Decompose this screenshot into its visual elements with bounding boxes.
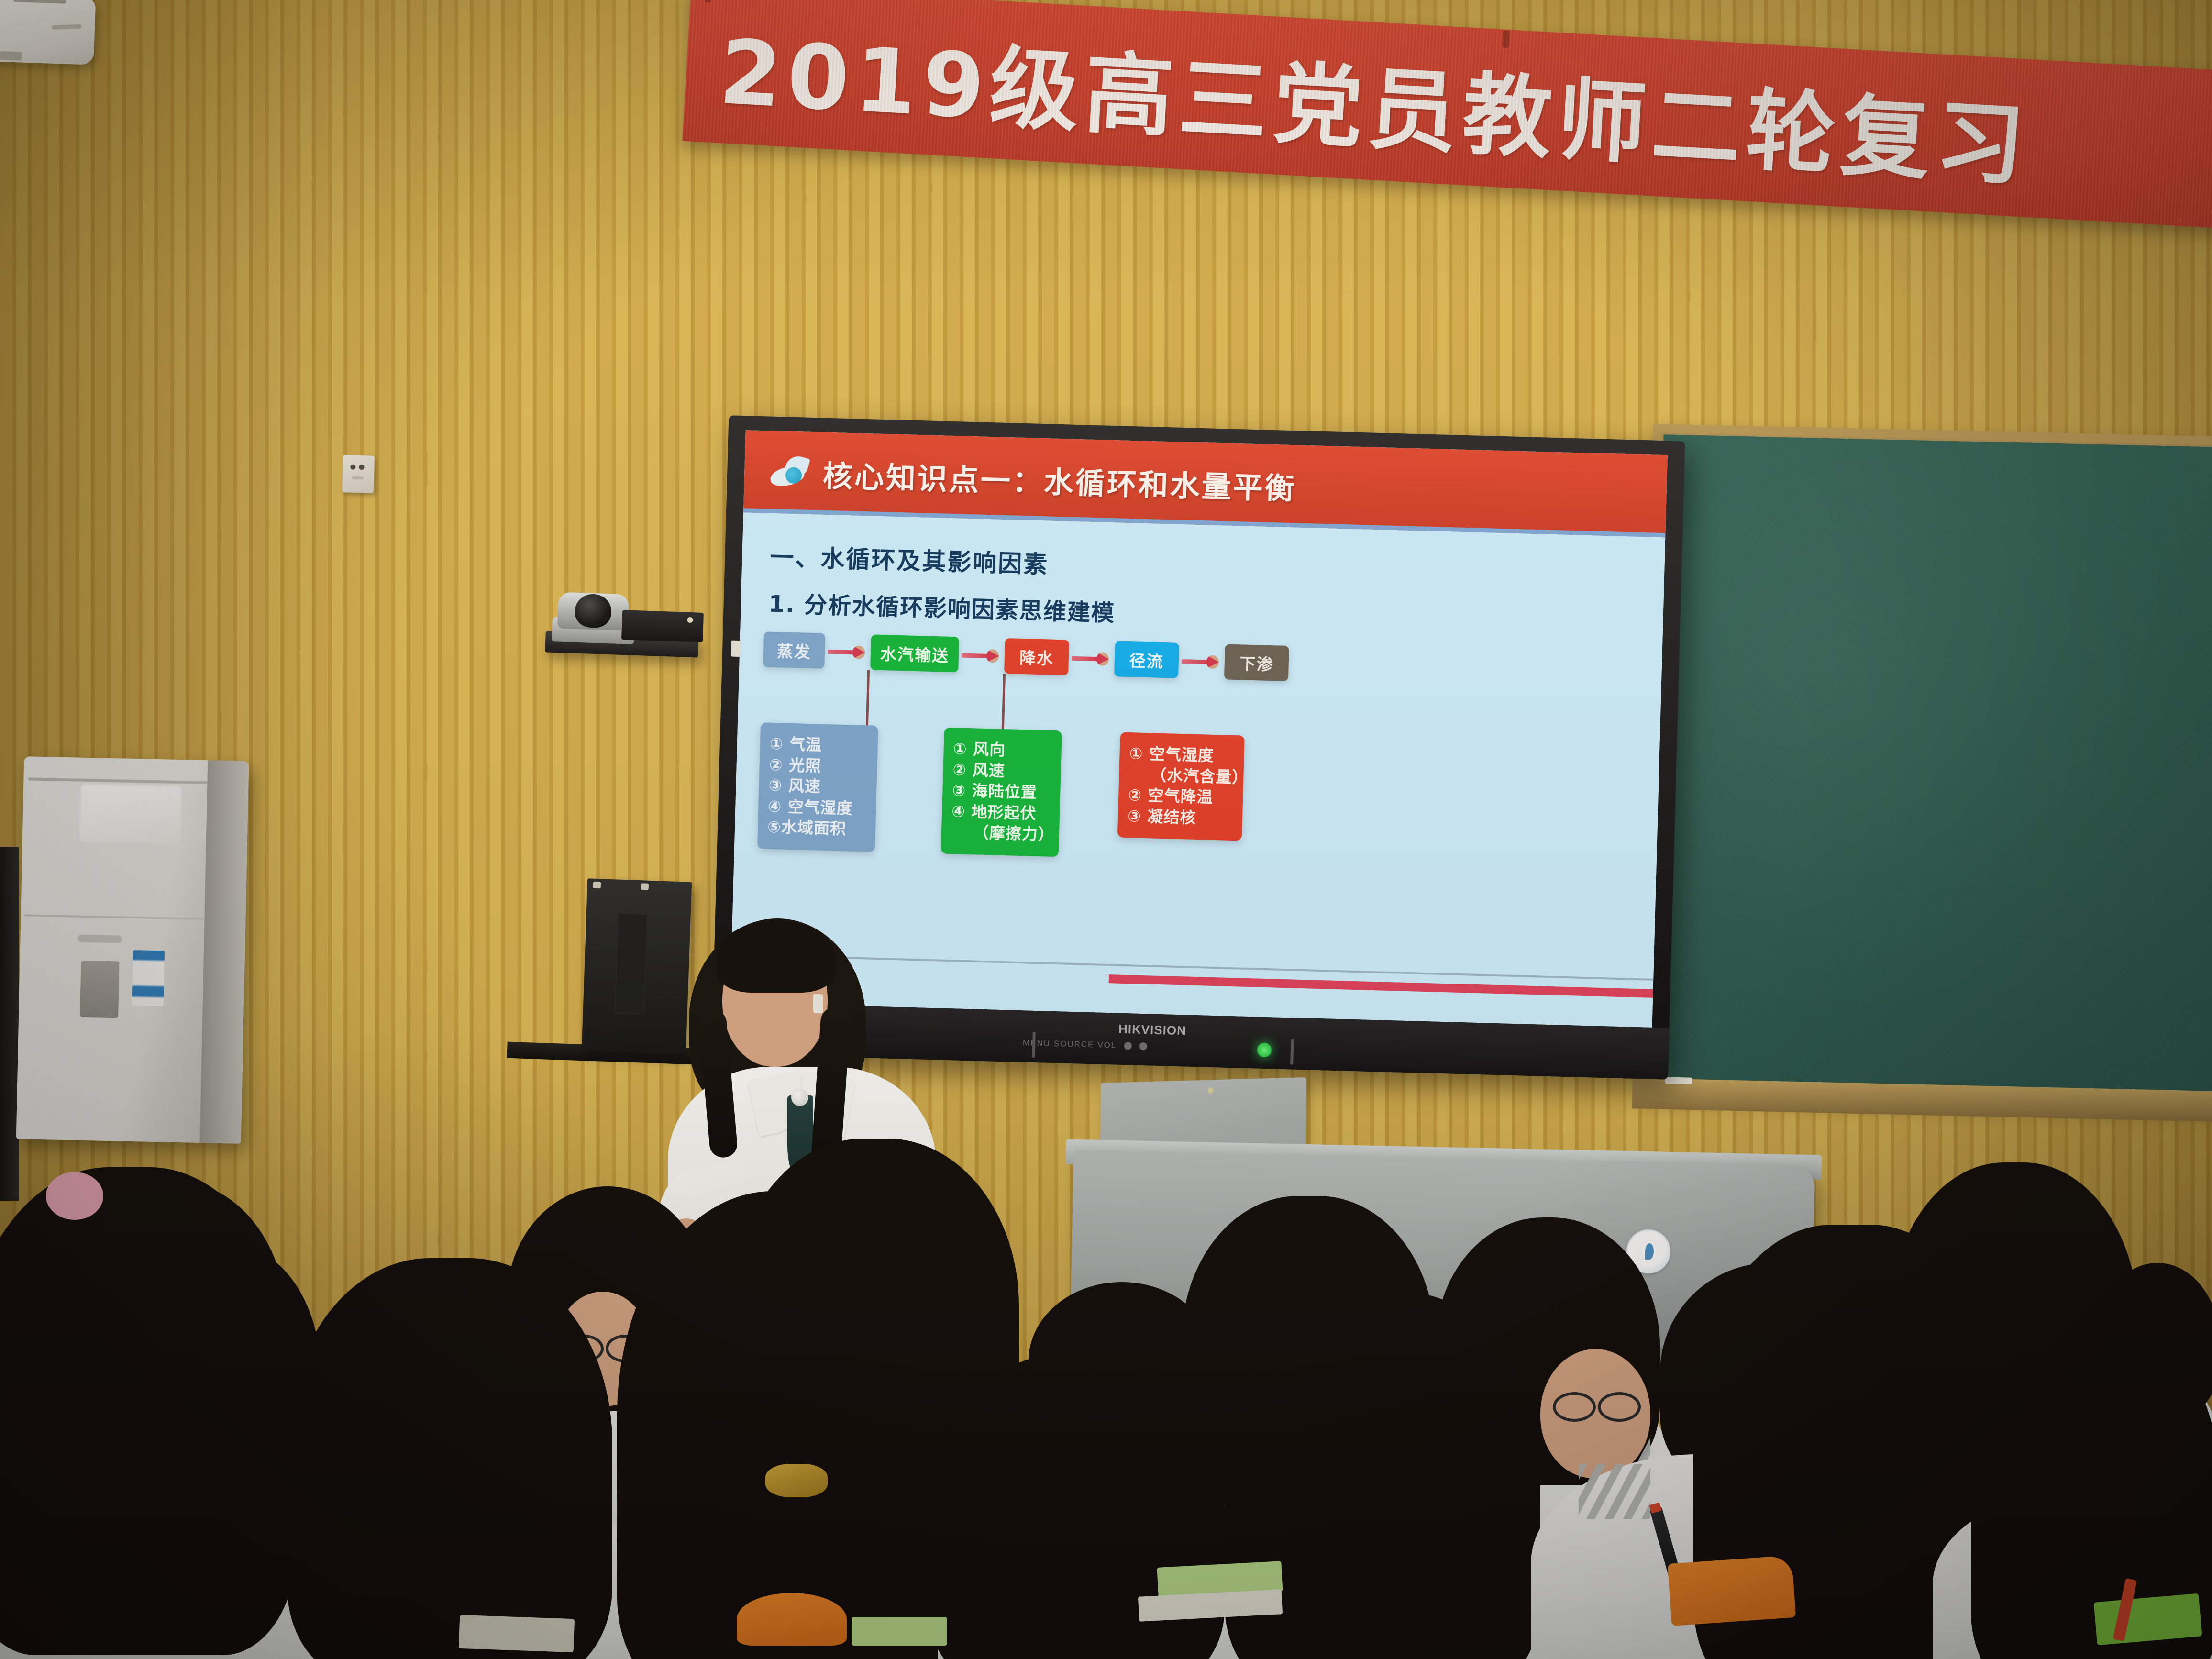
chalk-stick[interactable] (1665, 1077, 1692, 1084)
orange-folder[interactable] (1668, 1555, 1796, 1626)
panel-screen[interactable]: 核心知识点一：水循环和水量平衡 一、水循环及其影响因素 1. 分析水循环影响因素… (730, 430, 1668, 1028)
detail-item: ① 空气湿度 (1129, 743, 1235, 766)
chalkboard-surface (1647, 432, 2212, 1098)
banner-tie-mid (1502, 30, 1510, 48)
student-hair (617, 1191, 971, 1659)
camera-control-box (621, 610, 704, 642)
teacher-hair-top (717, 921, 835, 993)
glasses-icon (1553, 1392, 1596, 1422)
flow-chip-evaporation: 蒸发 (763, 631, 825, 668)
detail-item: ① 气温 (769, 733, 868, 757)
flow-arrow-1-icon (825, 645, 871, 658)
ac-energy-label (132, 950, 165, 1006)
panel-ir-sensor-icon (731, 641, 741, 657)
panel-bezel-tick-left (1032, 1032, 1035, 1058)
slide-body: 一、水循环及其影响因素 1. 分析水循环影响因素思维建模 蒸发 水汽输送 降水 … (730, 512, 1665, 1028)
detail-item: ① 风向 (953, 738, 1052, 762)
detail-item: （水汽含量） (1128, 764, 1234, 787)
green-stationery[interactable] (2093, 1593, 2202, 1646)
detail-item: ④ 空气湿度 (768, 796, 867, 819)
detail-box-precipitation: ① 空气湿度 （水汽含量） ② 空气降温 ③ 凝结核 (1117, 732, 1245, 841)
wall-speaker (0, 0, 96, 65)
ac-display-panel[interactable] (80, 961, 119, 1018)
glasses-icon (1598, 1392, 1641, 1422)
slide-heading-1: 一、水循环及其影响因素 (770, 538, 1050, 580)
panel-button-1-icon[interactable] (1124, 1042, 1132, 1050)
paper-sheet[interactable] (459, 1615, 575, 1652)
wall-dark-edge (0, 847, 19, 1201)
detail-box-evaporation: ① 气温 ② 光照 ③ 风速 ④ 空气湿度 ⑤水域面积 (757, 722, 878, 852)
power-led-icon (1257, 1043, 1272, 1058)
socket-hole-left (350, 465, 355, 470)
uniform-stripes-icon (1579, 1464, 1650, 1519)
connector-vapor (866, 670, 870, 726)
panel-button-row[interactable]: MENU SOURCE VOL (1023, 1038, 1148, 1051)
teacher-brooch (791, 1089, 808, 1106)
presentation-slide: 核心知识点一：水循环和水量平衡 一、水循环及其影响因素 1. 分析水循环影响因素… (730, 430, 1668, 1028)
classroom-photo: 2019级高三党员教师二轮复习 (0, 0, 2212, 1659)
socket-mouth (352, 476, 364, 480)
media-box-panel (615, 913, 648, 1015)
teacher-earring (813, 994, 823, 1013)
student-hair (287, 1258, 612, 1659)
media-box-screw-right (641, 883, 649, 890)
lectern-sticker-mark-icon (1645, 1243, 1654, 1260)
connector-precipitation (1002, 674, 1006, 730)
orange-book[interactable] (737, 1593, 847, 1646)
hair-clip (765, 1464, 828, 1497)
flow-arrow-4-icon (1179, 655, 1225, 668)
chalkboard (1638, 424, 2212, 1107)
flow-chip-runoff: 径流 (1114, 641, 1179, 678)
detail-item: ② 空气降温 (1128, 785, 1234, 808)
detail-box-vapor-transport: ① 风向 ② 风速 ③ 海陆位置 ④ 地形起伏 （摩擦力） (941, 728, 1062, 857)
panel-button-labels: MENU SOURCE VOL (1023, 1038, 1117, 1050)
dove-icon (769, 456, 811, 489)
ac-side-panel (200, 760, 249, 1144)
flow-arrow-2-icon (959, 649, 1005, 662)
detail-item: ② 风速 (952, 759, 1051, 783)
laptop-webcam-icon (1207, 1087, 1213, 1093)
banner-tie-left (705, 0, 712, 2)
detail-item: ⑤水域面积 (767, 817, 866, 840)
flow-chip-precipitation: 降水 (1004, 638, 1069, 675)
air-conditioner[interactable] (16, 756, 249, 1144)
slide-title: 核心知识点一：水循环和水量平衡 (822, 452, 1297, 508)
ac-glare (80, 785, 181, 844)
wall-media-box[interactable] (582, 878, 692, 1054)
speaker-slot (13, 0, 66, 4)
flow-arrow-3-icon (1069, 652, 1115, 665)
detail-item: ③ 凝结核 (1127, 806, 1233, 829)
socket-hole-right (359, 465, 364, 470)
speaker-vent-lower (0, 51, 22, 61)
flow-chip-vapor-transport: 水汽输送 (870, 634, 959, 672)
panel-brand-logo: HIKVISION (1118, 1022, 1187, 1039)
slide-heading-2: 1. 分析水循环影响因素思维建模 (768, 585, 1116, 628)
green-book[interactable] (852, 1617, 947, 1646)
camera-led-icon (687, 617, 693, 623)
media-box-screw-left (593, 882, 601, 889)
speaker-vent (52, 24, 81, 30)
detail-item: ④ 地形起伏 (951, 801, 1051, 824)
detail-item: ③ 海陆位置 (952, 780, 1051, 803)
detail-item: （摩擦力） (951, 821, 1050, 845)
detail-item: ② 光照 (769, 754, 868, 777)
flow-chip-infiltration: 下渗 (1224, 644, 1289, 681)
water-cycle-flow: 蒸发 水汽输送 降水 径流 下渗 (763, 631, 1289, 681)
hair-tie (46, 1172, 103, 1220)
panel-bezel-tick-right (1290, 1039, 1294, 1064)
detail-item: ③ 风速 (768, 775, 867, 798)
ac-brand-logo (77, 935, 122, 943)
ac-seam (24, 914, 204, 920)
student-hair (0, 1167, 297, 1655)
panel-button-2-icon[interactable] (1139, 1042, 1147, 1050)
wall-socket[interactable] (342, 455, 375, 493)
ac-top-vent (28, 777, 207, 784)
